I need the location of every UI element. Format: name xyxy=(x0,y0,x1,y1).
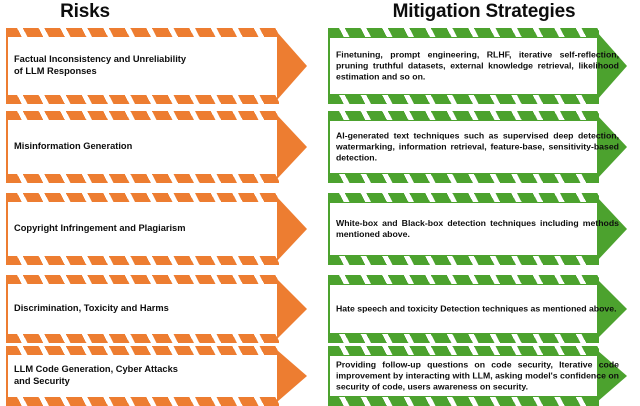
mitigation-cell: Finetuning, prompt engineering, RLHF, it… xyxy=(320,28,640,104)
risk-label: LLM Code Generation, Cyber Attacks and S… xyxy=(14,364,301,388)
column-headings: Risks Mitigation Strategies xyxy=(0,0,640,28)
striped-band-bottom xyxy=(6,334,279,343)
striped-band-bottom xyxy=(328,174,599,183)
striped-band-bottom xyxy=(328,95,599,104)
risks-mitigation-diagram: Risks Mitigation Strategies Factual Inco… xyxy=(0,0,640,406)
striped-band-bottom xyxy=(328,256,599,265)
striped-band-bottom xyxy=(6,174,279,183)
mitigation-arrow-banner: Providing follow-up questions on code se… xyxy=(328,346,627,406)
mitigation-label: Providing follow-up questions on code se… xyxy=(336,359,619,392)
striped-band-top xyxy=(328,28,599,37)
risk-label: Misinformation Generation xyxy=(14,141,301,153)
striped-band-bottom xyxy=(6,256,279,265)
heading-mitigation: Mitigation Strategies xyxy=(320,0,640,28)
mitigation-arrow-banner: Hate speech and toxicity Detection techn… xyxy=(328,275,627,343)
mitigation-label: Hate speech and toxicity Detection techn… xyxy=(336,303,619,314)
risk-cell: Discrimination, Toxicity and Harms xyxy=(0,275,320,343)
mitigation-cell: White-box and Black-box detection techni… xyxy=(320,193,640,265)
striped-band-top xyxy=(6,346,279,355)
risk-arrow-banner: Copyright Infringement and Plagiarism xyxy=(6,193,307,265)
mitigation-label: White-box and Black-box detection techni… xyxy=(336,218,619,240)
risk-cell: Factual Inconsistency and Unreliability … xyxy=(0,28,320,104)
mitigation-arrow-banner: White-box and Black-box detection techni… xyxy=(328,193,627,265)
striped-band-bottom xyxy=(328,397,599,406)
risk-label: Copyright Infringement and Plagiarism xyxy=(14,223,301,235)
striped-band-top xyxy=(6,111,279,120)
diagram-row: Copyright Infringement and Plagiarism Wh… xyxy=(0,193,640,265)
risk-arrow-banner: Discrimination, Toxicity and Harms xyxy=(6,275,307,343)
diagram-row: Discrimination, Toxicity and Harms Hate … xyxy=(0,275,640,343)
risk-arrow-banner: Factual Inconsistency and Unreliability … xyxy=(6,28,307,104)
striped-band-bottom xyxy=(6,397,279,406)
mitigation-cell: AI-generated text techniques such as sup… xyxy=(320,111,640,183)
striped-band-top xyxy=(328,275,599,284)
striped-band-top xyxy=(6,193,279,202)
risk-arrow-banner: Misinformation Generation xyxy=(6,111,307,183)
striped-band-bottom xyxy=(328,334,599,343)
mitigation-label: Finetuning, prompt engineering, RLHF, it… xyxy=(336,49,619,82)
heading-risks: Risks xyxy=(0,0,320,28)
mitigation-cell: Hate speech and toxicity Detection techn… xyxy=(320,275,640,343)
striped-band-bottom xyxy=(6,95,279,104)
risk-cell: LLM Code Generation, Cyber Attacks and S… xyxy=(0,346,320,406)
mitigation-arrow-banner: AI-generated text techniques such as sup… xyxy=(328,111,627,183)
risk-label: Discrimination, Toxicity and Harms xyxy=(14,303,301,315)
risk-arrow-banner: LLM Code Generation, Cyber Attacks and S… xyxy=(6,346,307,406)
striped-band-top xyxy=(328,111,599,120)
diagram-row: Misinformation Generation AI-generated t… xyxy=(0,111,640,183)
risk-cell: Copyright Infringement and Plagiarism xyxy=(0,193,320,265)
striped-band-top xyxy=(328,193,599,202)
diagram-row: Factual Inconsistency and Unreliability … xyxy=(0,28,640,104)
striped-band-top xyxy=(6,275,279,284)
risk-label: Factual Inconsistency and Unreliability … xyxy=(14,54,301,78)
risk-cell: Misinformation Generation xyxy=(0,111,320,183)
striped-band-top xyxy=(6,28,279,37)
striped-band-top xyxy=(328,346,599,355)
arrow-rows: Factual Inconsistency and Unreliability … xyxy=(0,28,640,406)
mitigation-cell: Providing follow-up questions on code se… xyxy=(320,346,640,406)
mitigation-arrow-banner: Finetuning, prompt engineering, RLHF, it… xyxy=(328,28,627,104)
diagram-row: LLM Code Generation, Cyber Attacks and S… xyxy=(0,346,640,406)
mitigation-label: AI-generated text techniques such as sup… xyxy=(336,130,619,163)
